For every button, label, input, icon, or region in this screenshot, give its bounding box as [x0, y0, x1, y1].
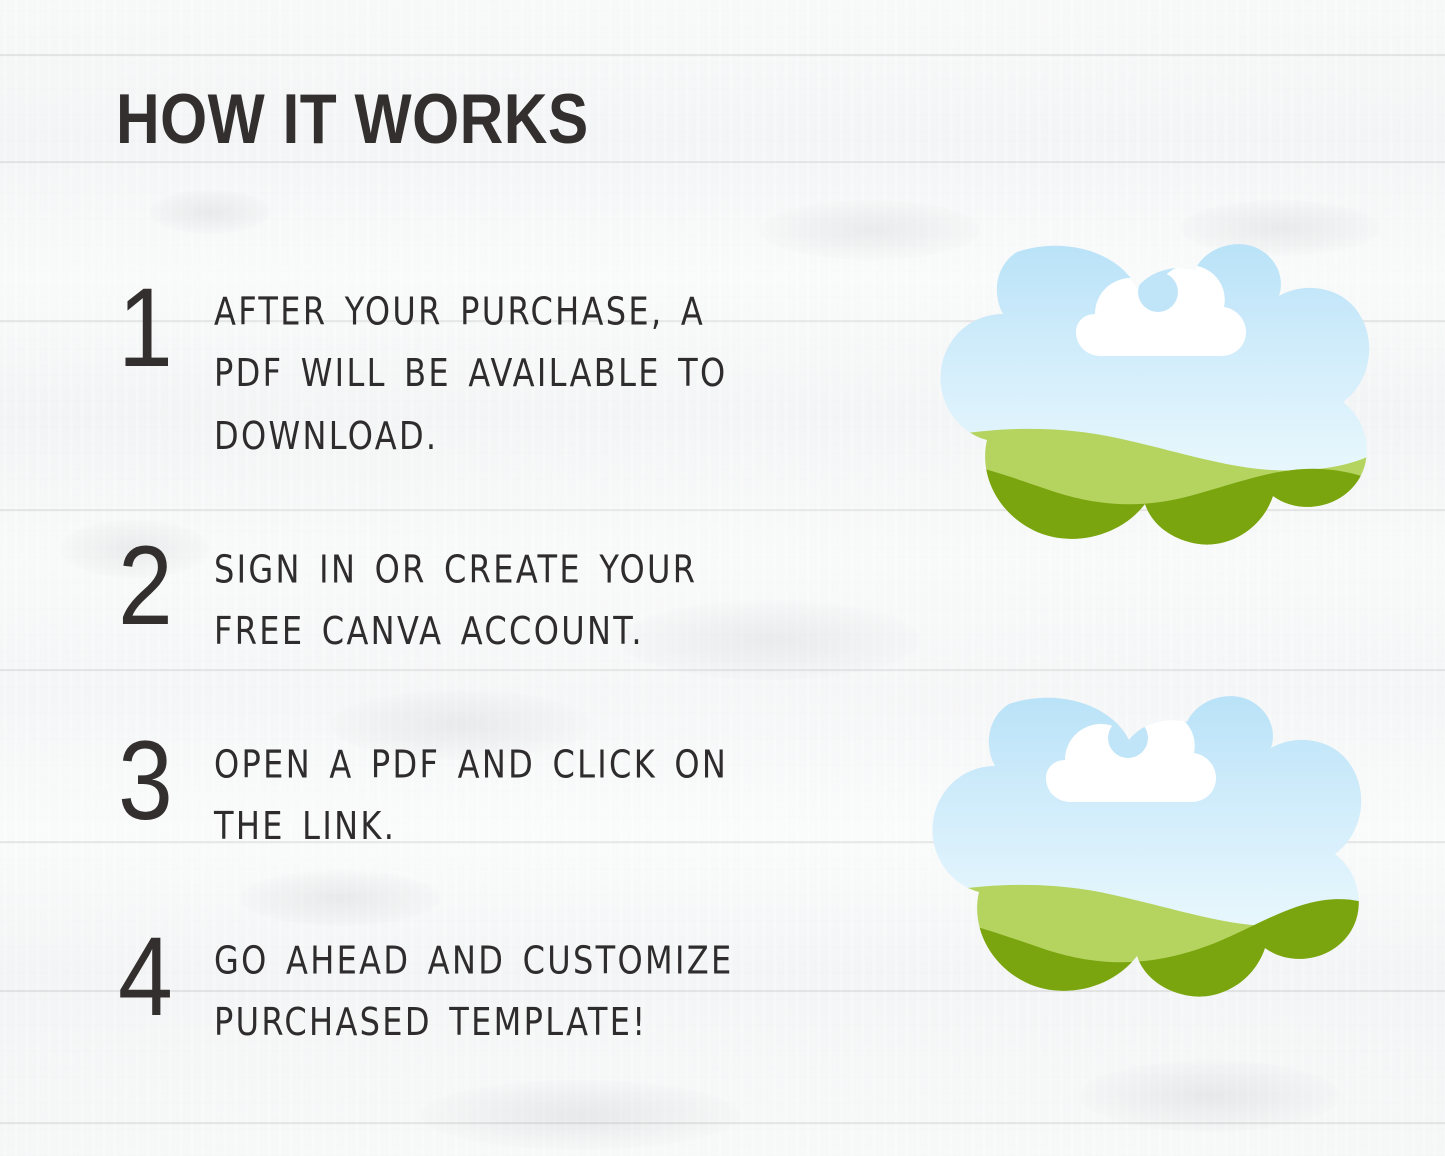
step-item-2: 2 SIGN IN OR CREATE YOUR FREE CANVA ACCO… — [118, 534, 712, 645]
tag-ring-hole — [1108, 718, 1148, 758]
dog-bone-tag-graphic — [897, 694, 1367, 1024]
step-text-line: FREE CANVA ACCOUNT. — [214, 601, 697, 663]
step-text-3: OPEN A PDF AND CLICK ON THE LINK. — [214, 729, 728, 858]
tag-ring-hole — [1138, 272, 1178, 312]
step-text-4: GO AHEAD AND CUSTOMIZE PURCHASED TEMPLAT… — [214, 925, 734, 1054]
step-text-1: AFTER YOUR PURCHASE, A PDF WILL BE AVAIL… — [214, 276, 728, 467]
step-item-1: 1 AFTER YOUR PURCHASE, A PDF WILL BE AVA… — [118, 276, 743, 440]
step-item-3: 3 OPEN A PDF AND CLICK ON THE LINK. — [118, 729, 744, 840]
page-title: HOW IT WORKS — [116, 85, 589, 156]
step-text-2: SIGN IN OR CREATE YOUR FREE CANVA ACCOUN… — [214, 534, 697, 663]
cloud-small-left — [897, 722, 979, 762]
bone-tag-body — [897, 694, 1367, 1024]
step-text-line: PURCHASED TEMPLATE! — [214, 992, 734, 1054]
step-text-line: DOWNLOAD. — [214, 405, 728, 467]
dog-bone-tag-graphic — [905, 242, 1375, 572]
dog-bone-tag-bottom — [897, 694, 1367, 1024]
step-number-2: 2 — [118, 534, 202, 638]
step-number-1: 1 — [118, 276, 202, 380]
step-text-line: PDF WILL BE AVAILABLE TO — [214, 343, 728, 405]
step-text-line: GO AHEAD AND CUSTOMIZE — [214, 930, 734, 992]
bone-tag-body — [905, 242, 1375, 572]
step-number-4: 4 — [118, 925, 202, 1029]
cloud-small-left — [905, 270, 987, 310]
poster-canvas: HOW IT WORKS 1 AFTER YOUR PURCHASE, A PD… — [0, 0, 1445, 1156]
step-item-4: 4 GO AHEAD AND CUSTOMIZE PURCHASED TEMPL… — [118, 925, 750, 1036]
dog-bone-tag-top — [905, 242, 1375, 572]
step-text-line: AFTER YOUR PURCHASE, A — [214, 281, 728, 343]
step-text-line: SIGN IN OR CREATE YOUR — [214, 539, 697, 601]
step-text-line: OPEN A PDF AND CLICK ON — [214, 734, 728, 796]
step-number-3: 3 — [118, 729, 202, 833]
step-text-line: THE LINK. — [214, 796, 728, 858]
